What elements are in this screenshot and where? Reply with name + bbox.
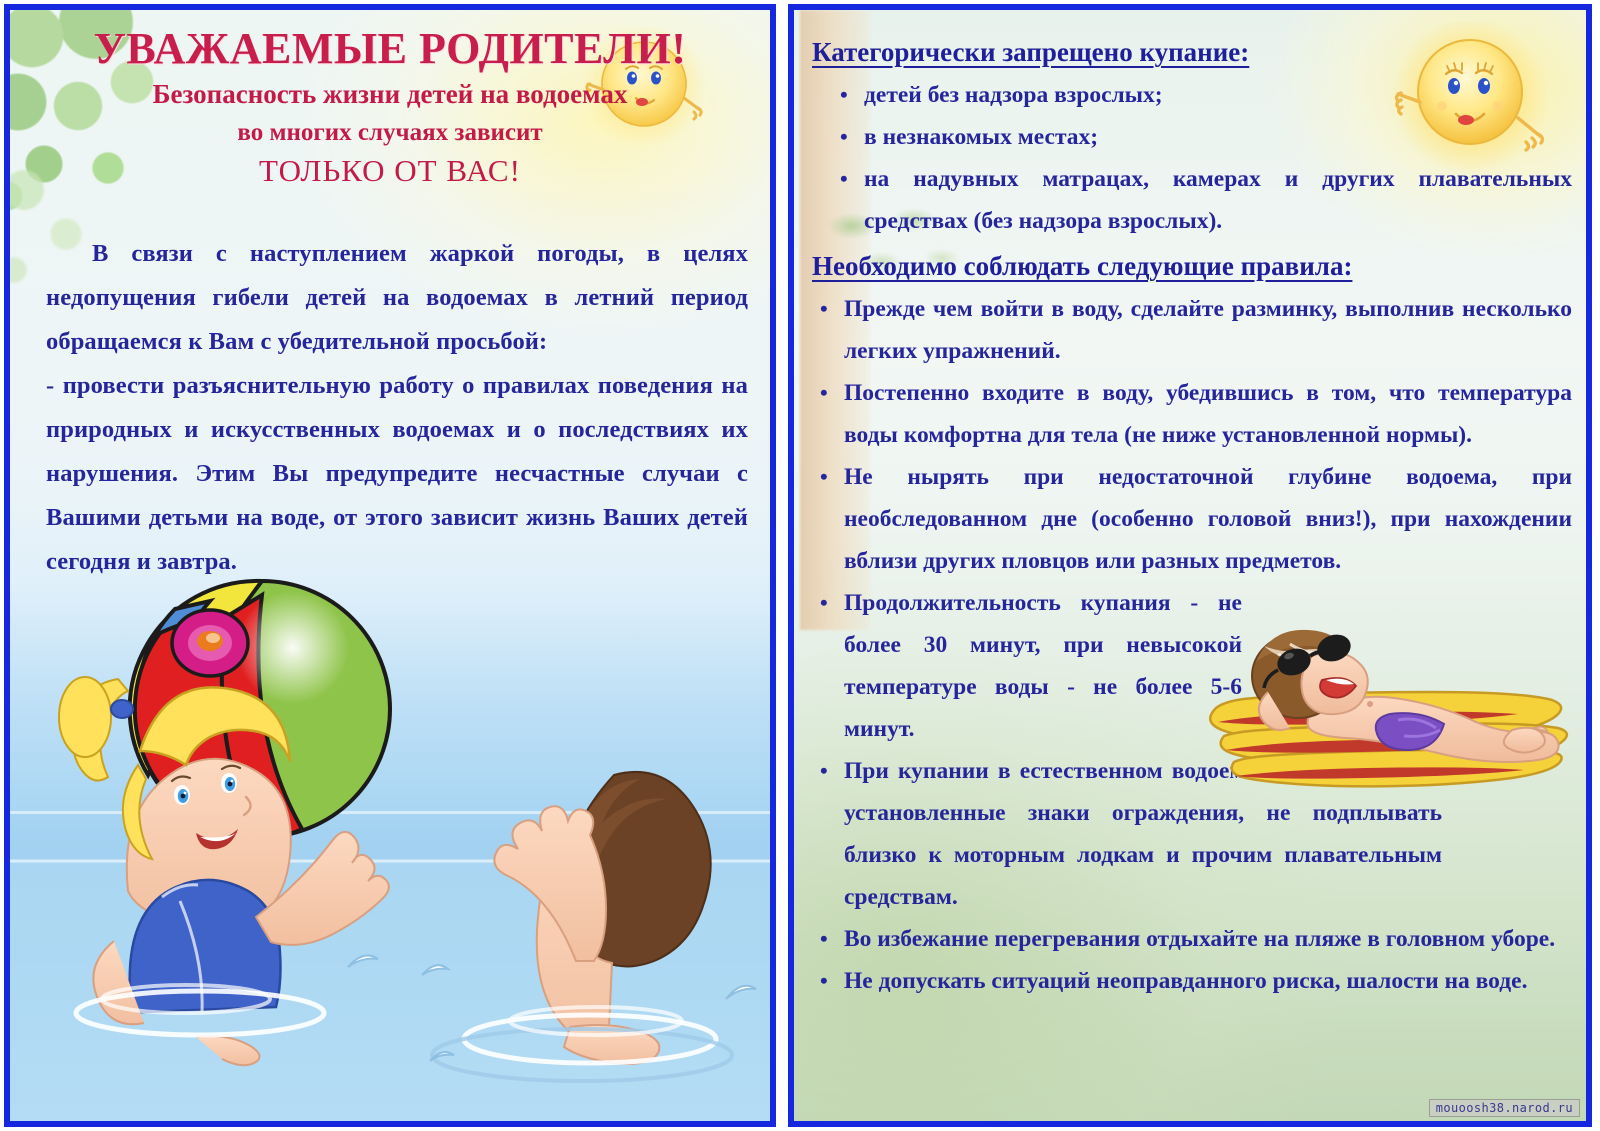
list-item: Не допускать ситуаций неоправданного рис…	[812, 960, 1572, 1002]
list-item: на надувных матрацах, камерах и других п…	[832, 158, 1572, 242]
heading-rules: Необходимо соблюдать следующие правила:	[812, 250, 1572, 283]
subtitle-line-3: ТОЛЬКО ОТ ВАС!	[10, 153, 770, 189]
subtitle-line-2: во многих случаях зависит	[10, 119, 770, 147]
list-item: Продолжительность купания - не более 30 …	[812, 582, 1242, 750]
poster-root: УВАЖАЕМЫЕ РОДИТЕЛИ! Безопасность жизни д…	[0, 0, 1600, 1131]
subtitle-line-1: Безопасность жизни детей на водоемах	[10, 80, 770, 110]
list-item: детей без надзора взрослых;	[832, 74, 1462, 116]
page-title: УВАЖАЕМЫЕ РОДИТЕЛИ!	[10, 26, 770, 72]
left-paragraph-1: В связи с наступлением жаркой погоды, в …	[46, 232, 748, 364]
list-item: Не нырять при недостаточной глубине водо…	[812, 456, 1572, 582]
left-panel: УВАЖАЕМЫЕ РОДИТЕЛИ! Безопасность жизни д…	[4, 4, 776, 1127]
right-content: Категорически запрещено купание: детей б…	[812, 36, 1572, 1002]
left-body-text: В связи с наступлением жаркой погоды, в …	[46, 232, 748, 584]
left-title-block: УВАЖАЕМЫЕ РОДИТЕЛИ! Безопасность жизни д…	[10, 26, 770, 189]
list-item: Постепенно входите в воду, убедившись в …	[812, 372, 1572, 456]
left-paragraph-2: - провести разъяснительную работу о прав…	[46, 364, 748, 584]
list-item: Прежде чем войти в воду, сделайте размин…	[812, 288, 1572, 372]
list-item: Во избежание перегревания отдыхайте на п…	[812, 918, 1572, 960]
children-playing-ball-illustration	[10, 561, 770, 1121]
list-item: в незнакомых местах;	[832, 116, 1462, 158]
right-panel: Категорически запрещено купание: детей б…	[788, 4, 1592, 1127]
prohibited-list: детей без надзора взрослых; в незнакомых…	[812, 74, 1572, 242]
sunbather-on-float-illustration	[1194, 596, 1574, 816]
heading-prohibited: Категорически запрещено купание:	[812, 36, 1572, 69]
watermark: mouoosh38.narod.ru	[1429, 1099, 1580, 1117]
